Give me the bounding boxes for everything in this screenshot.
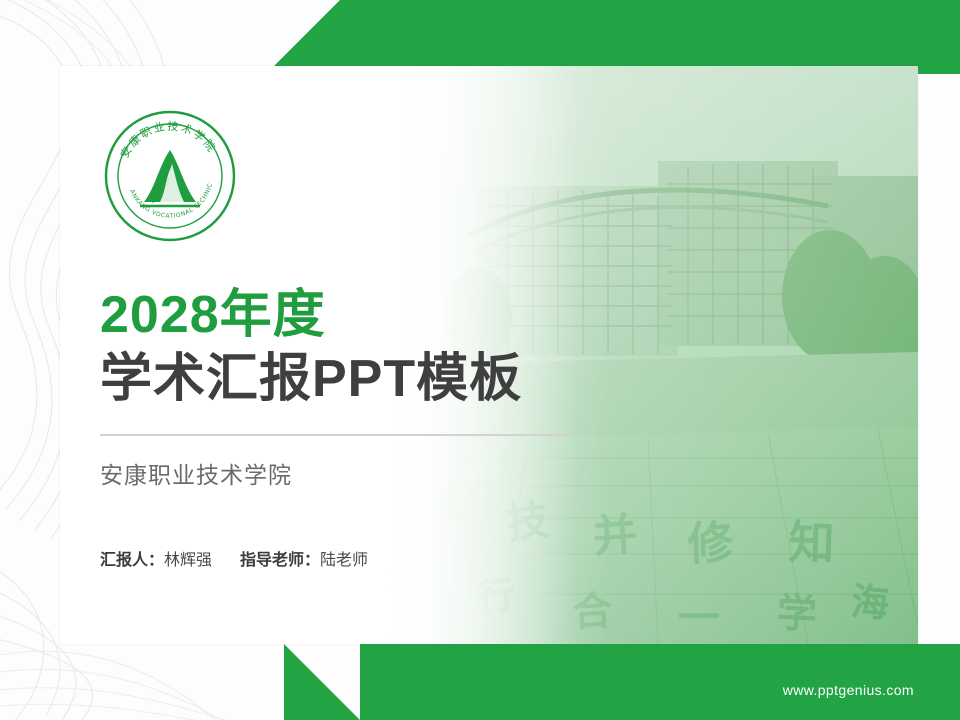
content-card: 德 技 并 修 知 行 合 一 学 海: [60, 66, 918, 644]
advisor-name: 陆老师: [320, 552, 368, 569]
title-line-1: 2028年度: [100, 286, 620, 344]
advisor-label: 指导老师：: [240, 552, 320, 569]
college-logo: 安康职业技术学院 ANKANG VOCATIONAL TECHNICAL COL…: [100, 106, 240, 246]
presenter-meta: 汇报人：林辉强指导老师：陆老师: [100, 546, 620, 570]
presentation-slide: 德 技 并 修 知 行 合 一 学 海: [0, 0, 960, 720]
title-line-2: 学术汇报PPT模板: [100, 350, 620, 408]
website-url[interactable]: www.pptgenius.com: [783, 682, 914, 698]
title-block: 2028年度 学术汇报PPT模板 安康职业技术学院 汇报人：林辉强指导老师：陆老…: [100, 286, 620, 570]
top-green-banner: [340, 0, 960, 74]
school-name: 安康职业技术学院: [100, 456, 620, 490]
title-divider: [100, 434, 570, 436]
presenter-label: 汇报人：: [100, 552, 164, 569]
presenter-name: 林辉强: [164, 552, 212, 569]
